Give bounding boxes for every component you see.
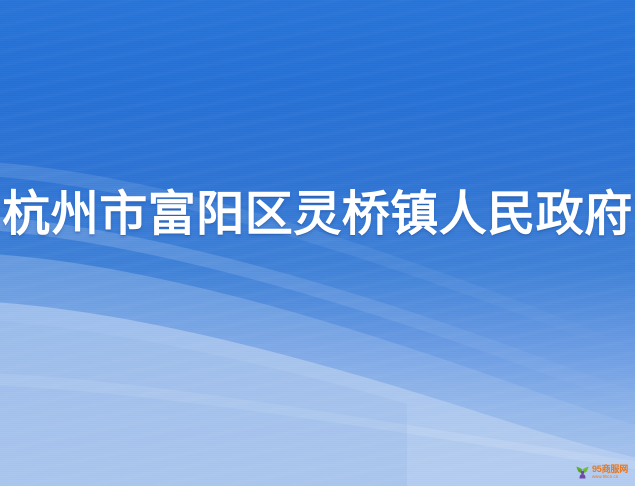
wave-swoosh-decoration <box>0 0 635 486</box>
watermark: 95商服网 www.95cn.cn <box>575 465 628 480</box>
watermark-text: 95商服网 www.95cn.cn <box>592 465 628 480</box>
watermark-site-url: www.95cn.cn <box>592 475 618 479</box>
watermark-icon-wrap <box>575 465 590 480</box>
watermark-site-name: 95商服网 <box>592 465 628 474</box>
site-banner: 杭州市富阳区灵桥镇人民政府 95商服网 www.95cn.cn <box>0 0 635 486</box>
green-sprout-person-icon <box>575 465 590 480</box>
